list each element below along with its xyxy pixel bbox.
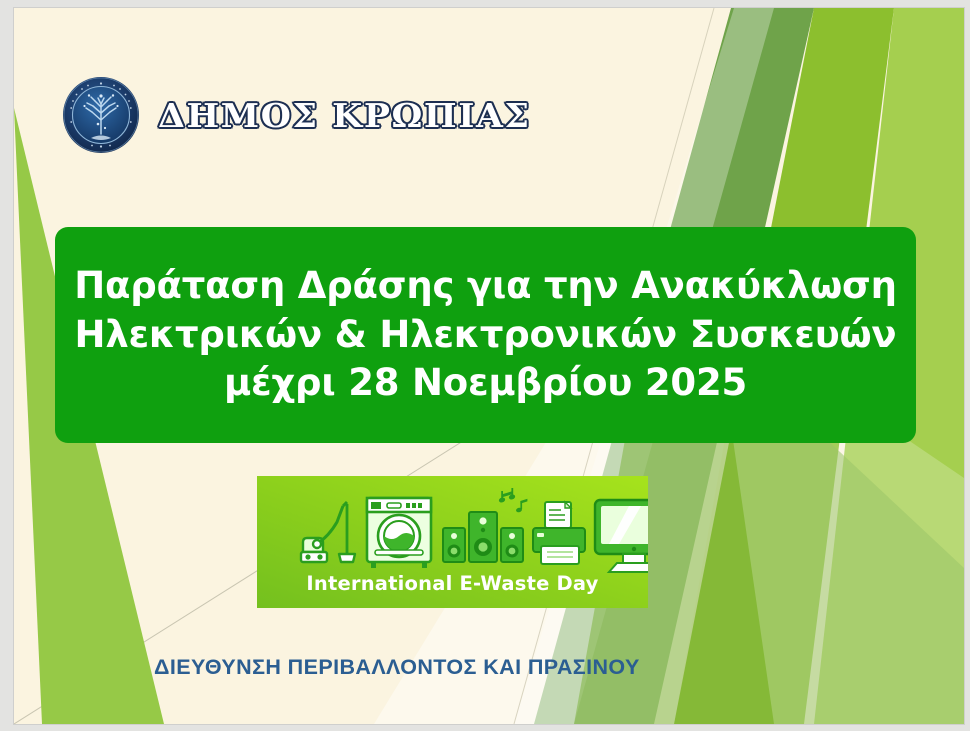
slide-frame: ΔΗΜΟΣ ΚΡΩΠΙΑΣ Παράταση Δράσης για την Αν… [0, 0, 970, 731]
title-line-1: Παράταση Δράσης για την Ανακύκλωση [74, 262, 897, 311]
municipal-seal-icon [62, 76, 140, 154]
municipality-header: ΔΗΜΟΣ ΚΡΩΠΙΑΣ [62, 76, 513, 154]
title-line-3: μέχρι 28 Νοεμβρίου 2025 [224, 359, 747, 408]
title-banner: Παράταση Δράσης για την Ανακύκλωση Ηλεκτ… [55, 227, 916, 443]
ewaste-day-banner: International E-Waste Day [257, 476, 648, 608]
presentation-slide: ΔΗΜΟΣ ΚΡΩΠΙΑΣ Παράταση Δράσης για την Αν… [14, 8, 964, 724]
title-line-2: Ηλεκτρικών & Ηλεκτρονικών Συσκευών [75, 311, 897, 360]
municipality-name: ΔΗΜΟΣ ΚΡΩΠΙΑΣ [158, 96, 531, 135]
ewaste-caption: International E-Waste Day [306, 572, 598, 595]
department-footer: ΔΙΕΥΘΥΝΣΗ ΠΕΡΙΒΑΛΛΟΝΤΟΣ ΚΑΙ ΠΡΑΣΙΝΟΥ [154, 655, 640, 680]
washing-machine-icon [367, 498, 431, 568]
